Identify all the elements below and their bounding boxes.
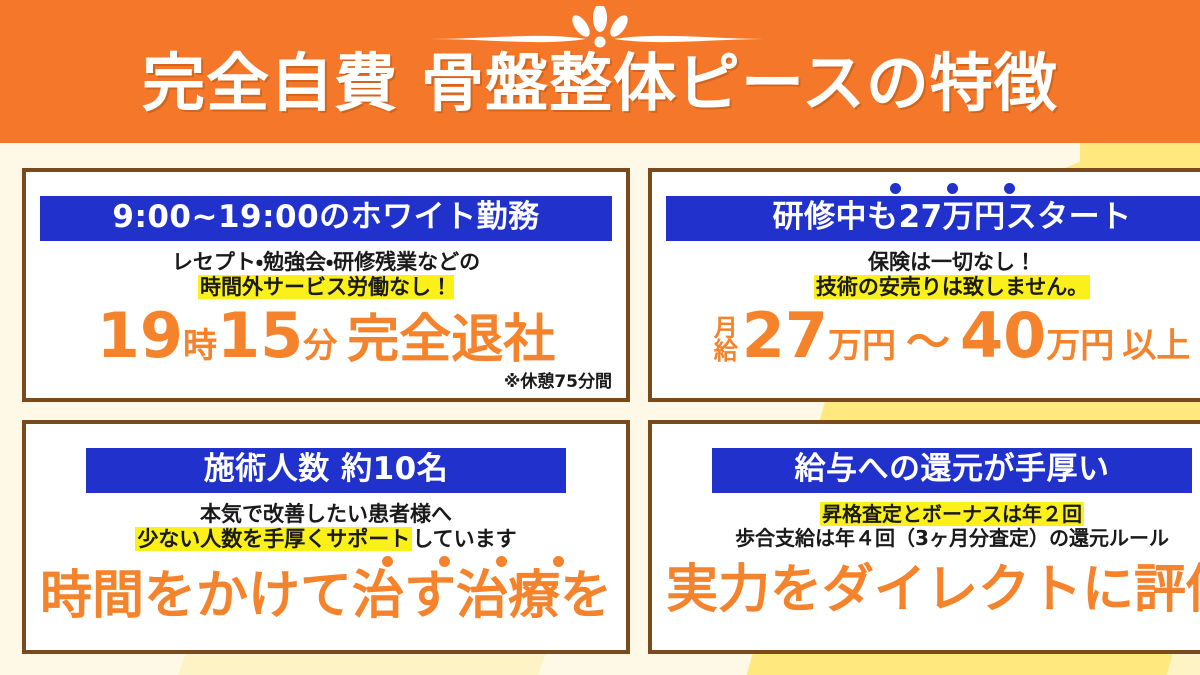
page-title: 完全自費 骨盤整体ピースの特徴 <box>0 52 1200 115</box>
highlighted-text: 少ない人数を手厚くサポート <box>135 527 412 551</box>
card-headline-phrase: 実力をダイレクトに評価 <box>666 564 1200 616</box>
feature-card-salary-return: 給与への還元が手厚い 昇格査定とボーナスは年２回 歩合支給は年４回（3ヶ月分査定… <box>648 420 1200 654</box>
card-subline-2: 時間外サービス労働なし！ <box>198 275 454 301</box>
emphasis-dot <box>890 183 901 194</box>
header-banner: 完全自費 骨盤整体ピースの特徴 <box>0 0 1200 143</box>
salary-suffix: 以上 <box>1122 329 1190 363</box>
card-title-banner: 研修中も27万円スタート <box>666 196 1200 241</box>
range-symbol: ～ <box>906 321 950 365</box>
salary-min-unit: 万円 <box>828 329 896 363</box>
subline-tail: しています <box>412 527 516 551</box>
card-headline-metric: 月 給 27 万円 ～ 40 万円 以上 <box>714 305 1191 367</box>
card-title-banner: 給与への還元が手厚い <box>712 448 1192 493</box>
card-body: 本気で改善したい患者様へ 少ない人数を手厚くサポートしています 時間をかけて治す… <box>40 493 612 642</box>
monthly-salary-label: 月 給 <box>714 317 738 362</box>
emphasis-dot <box>1004 183 1015 194</box>
highlighted-text: 時間外サービス労働なし！ <box>198 275 454 299</box>
card-headline-phrase: 時間をかけて治す治療を <box>40 570 612 622</box>
salary-min-value: 27 <box>742 305 828 367</box>
monthly-salary-label-bottom: 給 <box>714 340 738 363</box>
card-body: 保険は一切なし！ 技術の安売りは致しません。 月 給 27 万円 ～ 40 万円… <box>666 241 1200 390</box>
card-title-banner: 9:00~19:00のホワイト勤務 <box>40 196 612 241</box>
feature-card-white-working-hours: 9:00~19:00のホワイト勤務 レセプト・勉強会・研修残業などの 時間外サー… <box>22 168 630 402</box>
card-title-banner: 施術人数 約10名 <box>86 448 566 493</box>
card-subline-1: 本気で改善したい患者様へ <box>200 502 452 528</box>
salary-max-value: 40 <box>960 305 1046 367</box>
card-subline-1: レセプト・勉強会・研修残業などの <box>172 250 480 276</box>
card-body: 昇格査定とボーナスは年２回 歩合支給は年４回（3ヶ月分査定）の還元ルール 実力を… <box>666 493 1200 642</box>
emphasis-dots <box>890 182 1015 194</box>
poster-canvas: 完全自費 骨盤整体ピースの特徴 9:00~19:00のホワイト勤務 レセプト・勉… <box>0 0 1200 675</box>
highlighted-text: 技術の安売りは致しません。 <box>814 275 1090 299</box>
metric-minute-unit: 分 <box>303 329 337 363</box>
salary-max-unit: 万円 <box>1046 329 1114 363</box>
card-footnote: ※休憩75分間 <box>504 367 612 392</box>
metric-label: 完全退社 <box>347 314 555 366</box>
card-headline-metric: 19 時 15 分 完全退社 <box>97 305 556 367</box>
feature-card-grid: 9:00~19:00のホワイト勤務 レセプト・勉強会・研修残業などの 時間外サー… <box>22 168 1178 654</box>
feature-card-patient-count: 施術人数 約10名 本気で改善したい患者様へ 少ない人数を手厚くサポートしていま… <box>22 420 630 654</box>
card-subline-2: 少ない人数を手厚くサポートしています <box>135 527 516 553</box>
card-subline-1: 昇格査定とボーナスは年２回 <box>820 502 1084 526</box>
metric-hour-value: 19 <box>97 305 183 367</box>
card-subline-1: 保険は一切なし！ <box>868 250 1036 276</box>
emphasis-dot <box>947 183 958 194</box>
feature-card-training-salary-start: 研修中も27万円スタート 保険は一切なし！ 技術の安売りは致しません。 月 給 … <box>648 168 1200 402</box>
metric-hour-unit: 時 <box>183 329 217 363</box>
card-subline-2: 歩合支給は年４回（3ヶ月分査定）の還元ルール <box>735 526 1169 550</box>
metric-minute-value: 15 <box>217 305 303 367</box>
card-subline-2: 技術の安売りは致しません。 <box>814 275 1090 301</box>
highlighted-text: 昇格査定とボーナスは年２回 <box>820 502 1084 526</box>
